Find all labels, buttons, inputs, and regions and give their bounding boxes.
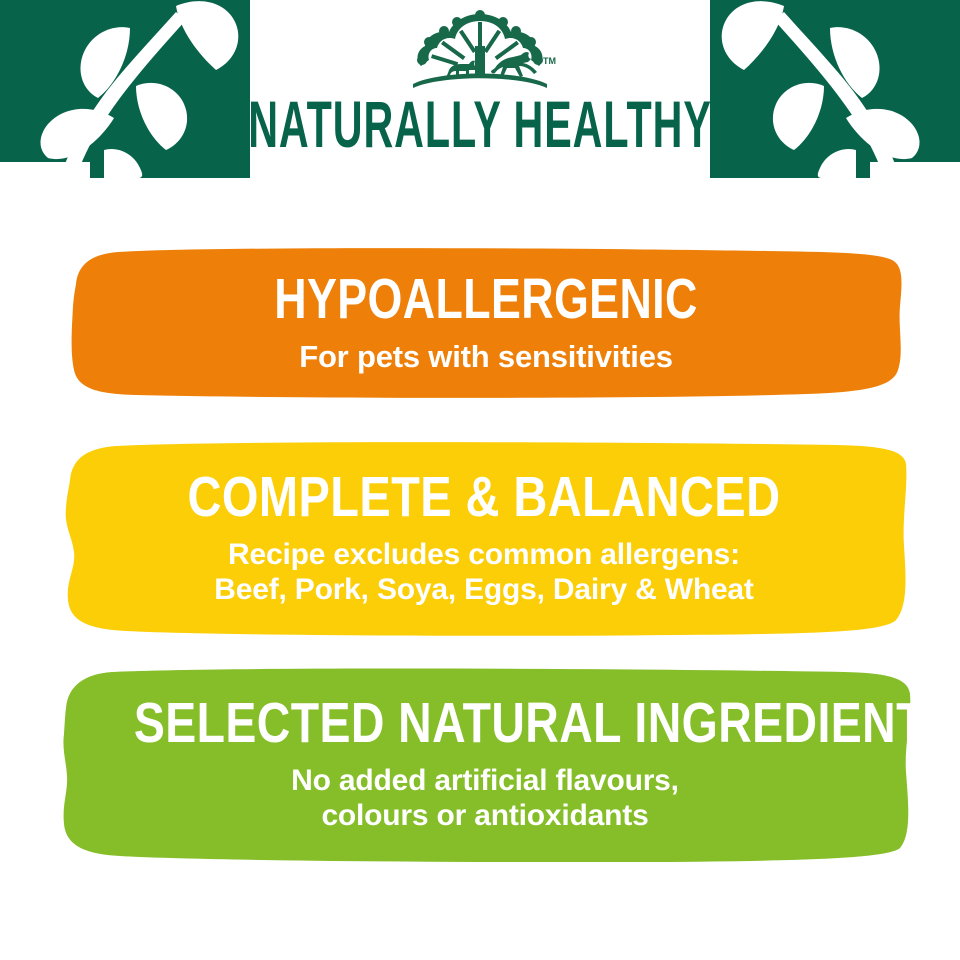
tree-paw-cat-dog-logo: TM [395,8,565,94]
banner-complete-and-balanced: COMPLETE & BALANCED Recipe excludes comm… [56,440,912,636]
poster-canvas: TM NATURALLY HEALTHY HYPOALLERGENIC For … [0,0,960,960]
page-title: NATURALLY HEALTHY [180,86,780,162]
banner-subtitle-hypoallergenic: For pets with sensitivities [66,339,906,375]
banner-heading-selected-natural-ingredients: SELECTED NATURAL INGREDIENTS [134,695,836,752]
banner-heading-complete-and-balanced: COMPLETE & BALANCED [131,469,837,526]
banner-subtitle-line-2-ingredients: colours or antioxidants [54,799,916,834]
banner-hypoallergenic: HYPOALLERGENIC For pets with sensitiviti… [66,248,906,398]
banner-heading-hypoallergenic: HYPOALLERGENIC [156,271,816,328]
banner-selected-natural-ingredients: SELECTED NATURAL INGREDIENTS No added ar… [54,666,916,862]
trademark-mark: TM [543,56,556,66]
banner-subtitle-line-1-ingredients: No added artificial flavours, [54,764,916,799]
banner-subtitle-line-2-complete: Beef, Pork, Soya, Eggs, Dairy & Wheat [56,573,912,608]
banner-subtitle-line-1-complete: Recipe excludes common allergens: [56,538,912,573]
